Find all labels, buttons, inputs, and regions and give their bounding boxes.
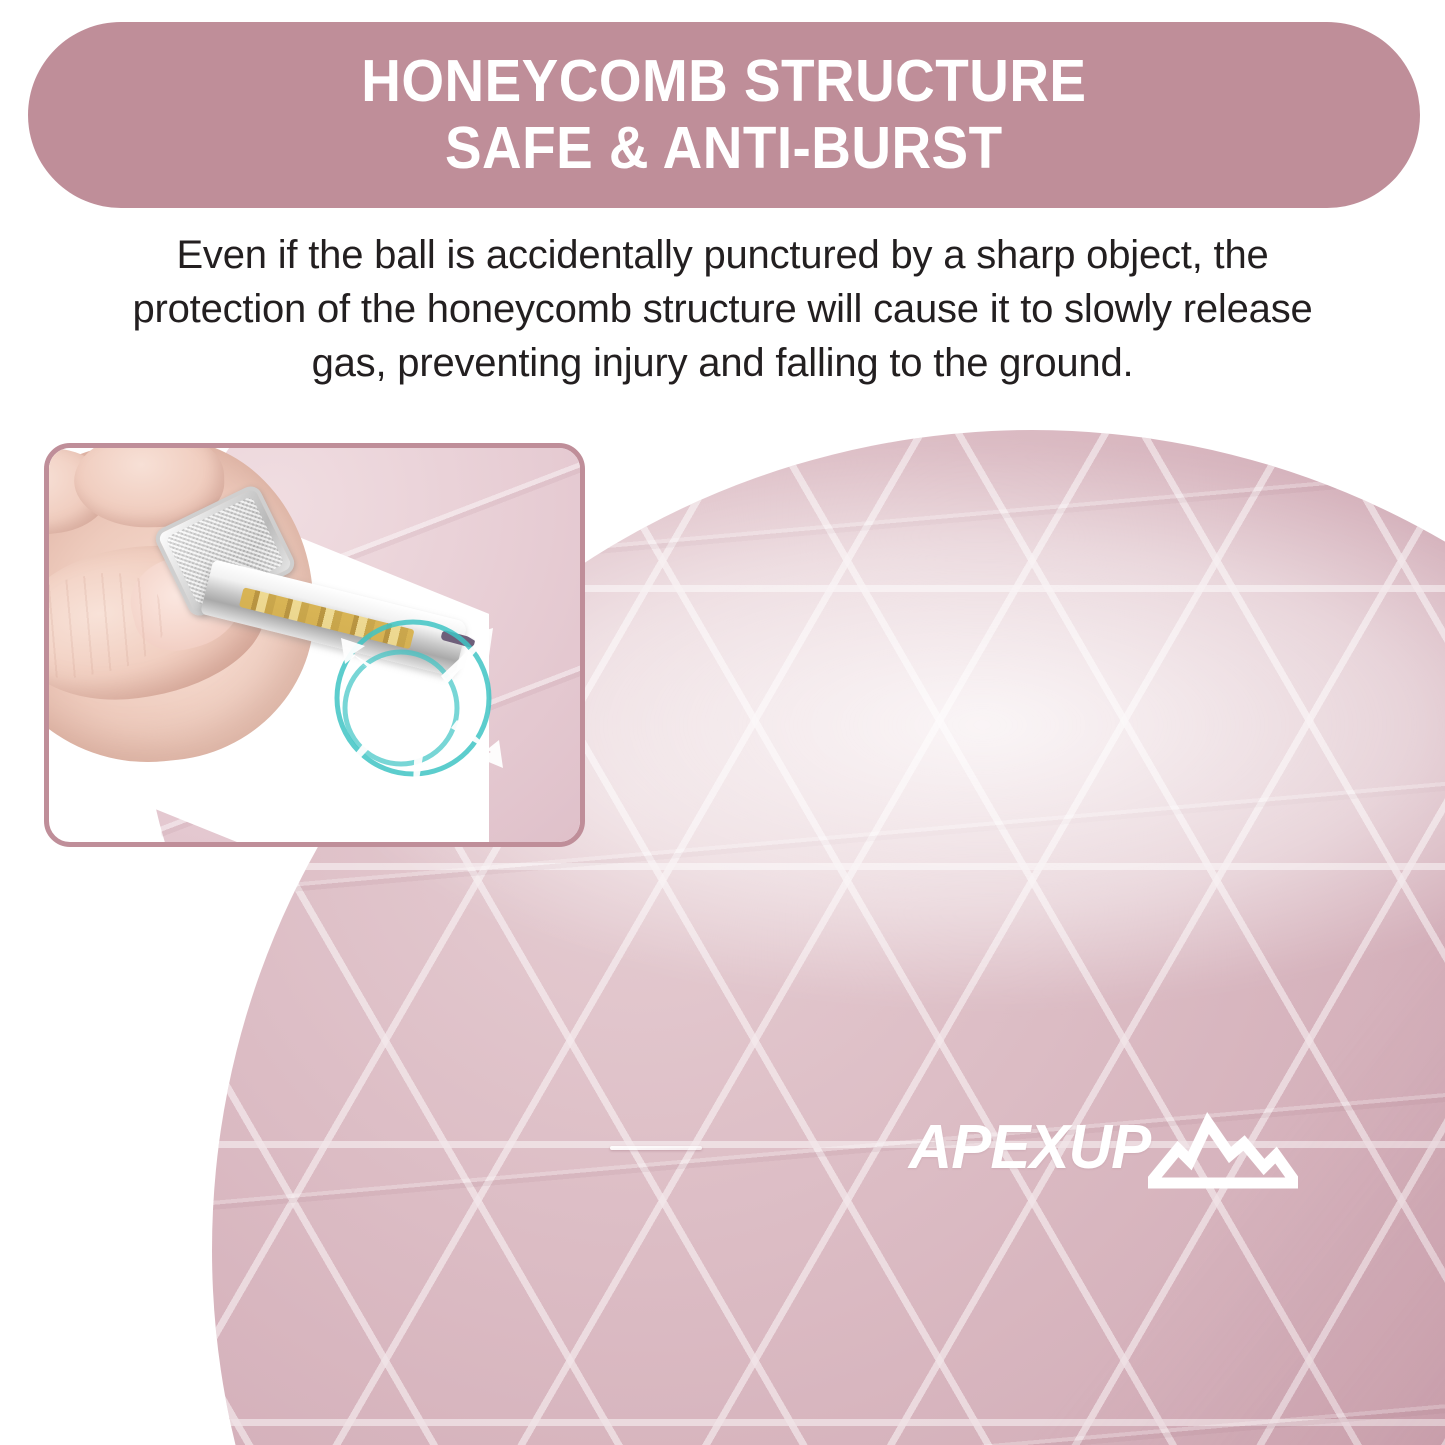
mountain-peaks-icon <box>1148 1109 1298 1189</box>
headline-line-2: SAFE & ANTI-BURST <box>445 115 1003 182</box>
product-feature-card: HONEYCOMB STRUCTURE SAFE & ANTI-BURST Ev… <box>0 0 1445 1445</box>
puncture-demo-inset <box>44 443 585 847</box>
puncture-scratch <box>610 1146 702 1150</box>
air-release-arrows-icon <box>301 590 521 810</box>
headline-line-1: HONEYCOMB STRUCTURE <box>361 48 1086 115</box>
brand-wordmark: APEXUP <box>909 1112 1150 1183</box>
description-text: Even if the ball is accidentally punctur… <box>110 228 1335 390</box>
brand-logo: APEXUP <box>905 1105 1298 1189</box>
headline-banner: HONEYCOMB STRUCTURE SAFE & ANTI-BURST <box>28 22 1420 208</box>
